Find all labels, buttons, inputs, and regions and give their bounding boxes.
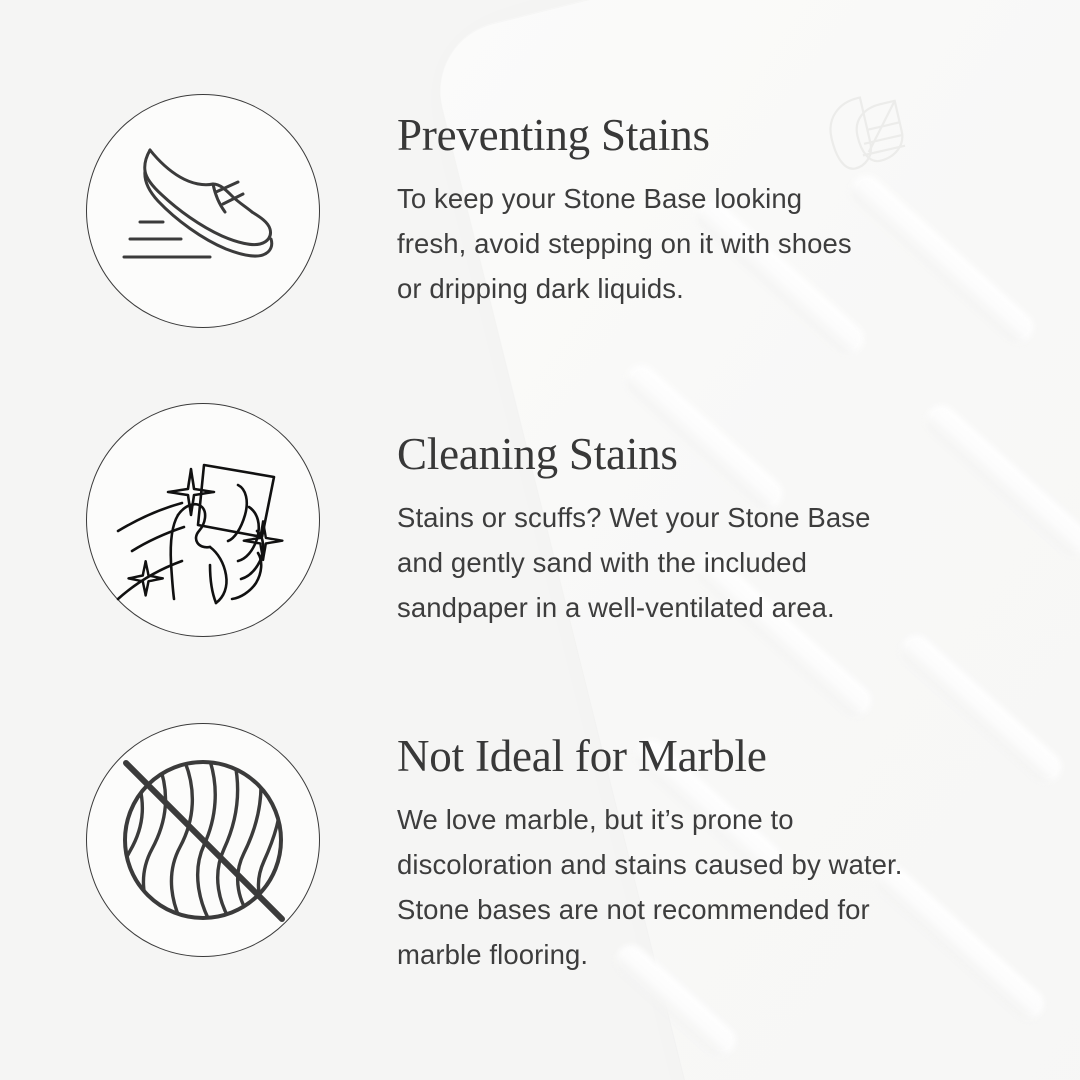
section-body: Stains or scuffs? Wet your Stone Base an…: [397, 495, 1037, 630]
no-marble-slashed-icon: [86, 723, 320, 957]
section-cleaning-stains: Cleaning Stains Stains or scuffs? Wet yo…: [0, 403, 1080, 637]
section-heading: Cleaning Stains: [397, 431, 1037, 479]
body-line: or dripping dark liquids.: [397, 266, 1037, 311]
body-line: marble flooring.: [397, 932, 1037, 977]
care-instructions-card: Preventing Stains To keep your Stone Bas…: [0, 0, 1080, 1080]
body-line: Stains or scuffs? Wet your Stone Base: [397, 495, 1037, 540]
body-line: sandpaper in a well-ventilated area.: [397, 585, 1037, 630]
hand-wiping-cloth-sparkle-icon: [86, 403, 320, 637]
no-marble-slashed-icon-art: [86, 723, 320, 957]
section-body: We love marble, but it’s prone to discol…: [397, 797, 1037, 977]
body-line: and gently sand with the included: [397, 540, 1037, 585]
text-column: Cleaning Stains Stains or scuffs? Wet yo…: [397, 425, 1037, 630]
section-preventing-stains: Preventing Stains To keep your Stone Bas…: [0, 94, 1080, 328]
section-body: To keep your Stone Base looking fresh, a…: [397, 176, 1037, 311]
section-heading: Not Ideal for Marble: [397, 733, 1037, 781]
section-not-ideal-for-marble: Not Ideal for Marble We love marble, but…: [0, 723, 1080, 977]
body-line: To keep your Stone Base looking: [397, 176, 1037, 221]
body-line: We love marble, but it’s prone to: [397, 797, 1037, 842]
body-line: Stone bases are not recommended for: [397, 887, 1037, 932]
shoe-motion-icon: [86, 94, 320, 328]
text-column: Preventing Stains To keep your Stone Bas…: [397, 106, 1037, 311]
hand-wiping-cloth-sparkle-icon-art: [86, 403, 320, 637]
text-column: Not Ideal for Marble We love marble, but…: [397, 727, 1037, 977]
body-line: fresh, avoid stepping on it with shoes: [397, 221, 1037, 266]
section-heading: Preventing Stains: [397, 112, 1037, 160]
body-line: discoloration and stains caused by water…: [397, 842, 1037, 887]
shoe-motion-icon-art: [86, 94, 320, 328]
